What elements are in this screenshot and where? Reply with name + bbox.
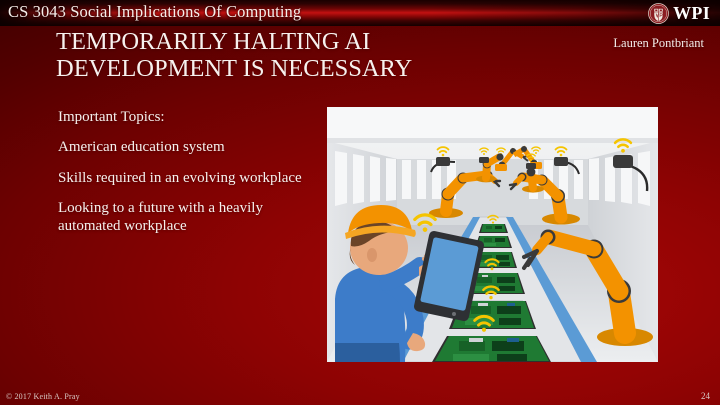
wpi-seal-icon bbox=[648, 3, 669, 24]
page-number: 24 bbox=[701, 391, 710, 401]
slide-header-bar: CS 3043 Social Implications Of Computing bbox=[0, 0, 720, 26]
presentation-slide: CS 3043 Social Implications Of Computing… bbox=[0, 0, 720, 405]
slide-title-line-1: TEMPORARILY HALTING AI bbox=[56, 28, 556, 55]
list-item: Skills required in an evolving workplace bbox=[58, 169, 326, 187]
wpi-logo: WPI bbox=[648, 1, 710, 25]
circuit-board bbox=[432, 336, 551, 362]
factory-scene-svg bbox=[327, 107, 658, 362]
slide-title-line-2: DEVELOPMENT IS NECESSARY bbox=[56, 55, 556, 82]
course-title: CS 3043 Social Implications Of Computing bbox=[8, 2, 301, 22]
author-name: Lauren Pontbriant bbox=[613, 36, 704, 51]
topics-list: Important Topics: American education sys… bbox=[58, 108, 326, 235]
list-item: Looking to a future with a heavily autom… bbox=[58, 199, 326, 236]
list-item: Important Topics: bbox=[58, 108, 326, 126]
slide-title: TEMPORARILY HALTING AI DEVELOPMENT IS NE… bbox=[56, 28, 556, 83]
list-item: American education system bbox=[58, 138, 326, 156]
copyright-notice: © 2017 Keith A. Pray bbox=[6, 392, 80, 401]
circuit-board bbox=[479, 224, 508, 233]
wpi-wordmark: WPI bbox=[673, 4, 710, 22]
smart-factory-illustration bbox=[327, 107, 658, 362]
